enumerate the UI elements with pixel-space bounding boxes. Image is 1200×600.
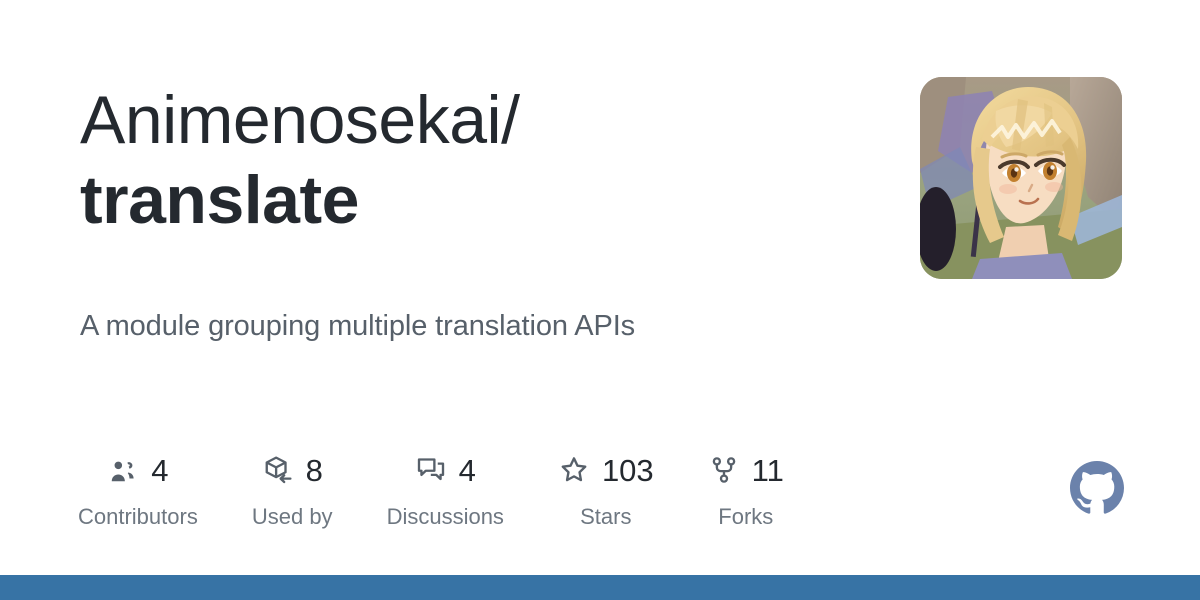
- stat-label: Forks: [718, 504, 773, 530]
- stat-forks[interactable]: 11 Forks: [708, 450, 784, 530]
- repository-owner: Animenosekai/: [80, 86, 870, 154]
- stat-value: 4: [459, 455, 476, 486]
- stat-value: 11: [752, 455, 784, 486]
- repository-title-block: Animenosekai/ translate: [80, 86, 870, 234]
- repository-stats: 4 Contributors 8 Used by: [78, 450, 1128, 540]
- stat-used-by[interactable]: 8 Used by: [252, 450, 333, 530]
- stat-value: 4: [151, 455, 168, 486]
- avatar: [920, 77, 1122, 279]
- stat-top: 103: [558, 450, 654, 490]
- stat-label: Contributors: [78, 504, 198, 530]
- stat-label: Stars: [580, 504, 631, 530]
- repository-description: A module grouping multiple translation A…: [80, 310, 635, 343]
- star-icon: [558, 454, 590, 486]
- stat-top: 11: [708, 450, 784, 490]
- anime-avatar-icon: [920, 77, 1122, 279]
- stat-label: Discussions: [387, 504, 504, 530]
- stat-discussions[interactable]: 4 Discussions: [387, 450, 504, 530]
- package-dependents-icon: [262, 454, 294, 486]
- stat-top: 4: [415, 450, 476, 490]
- stat-stars[interactable]: 103 Stars: [558, 450, 654, 530]
- stat-value: 8: [306, 455, 323, 486]
- stat-contributors[interactable]: 4 Contributors: [78, 450, 198, 530]
- stat-value: 103: [602, 455, 654, 486]
- repository-name: translate: [80, 166, 870, 234]
- repo-forked-icon: [708, 454, 740, 486]
- stat-label: Used by: [252, 504, 333, 530]
- comment-discussion-icon: [415, 454, 447, 486]
- people-icon: [107, 454, 139, 486]
- repository-social-card: Animenosekai/ translate A module groupin…: [0, 0, 1200, 600]
- stat-top: 4: [107, 450, 168, 490]
- github-mark-icon: [1070, 461, 1124, 515]
- accent-bar: [0, 575, 1200, 600]
- page-title: Animenosekai/ translate: [80, 86, 870, 234]
- stat-top: 8: [262, 450, 323, 490]
